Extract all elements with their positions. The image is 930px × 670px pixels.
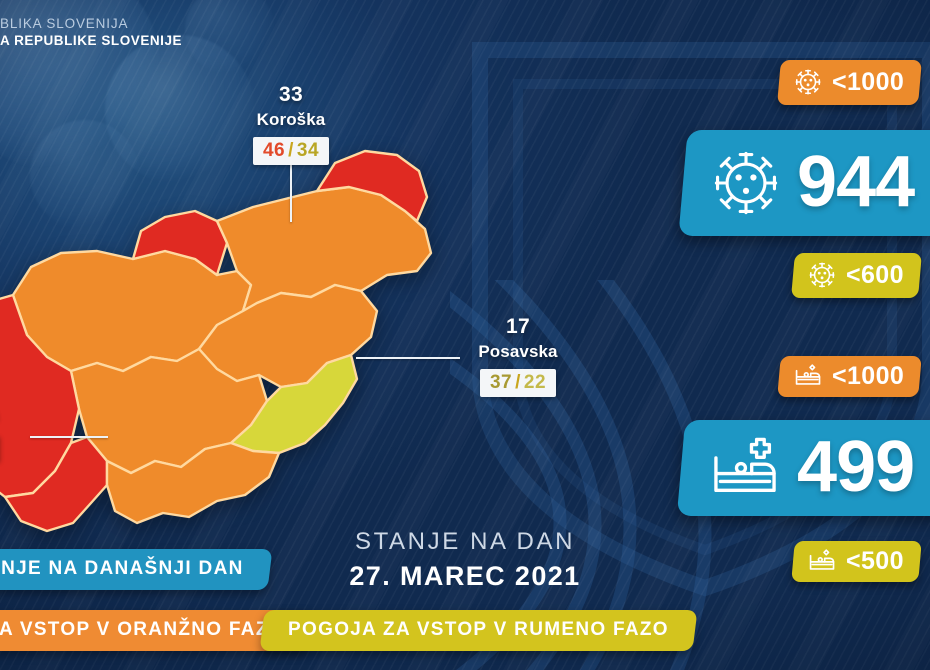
bar-orange-phase-label: ZA VSTOP V ORANŽNO FAZO xyxy=(0,619,285,641)
header-line-2: A REPUBLIKE SLOVENIJE xyxy=(0,33,182,48)
threshold-cases-yellow[interactable]: <600 xyxy=(791,253,922,298)
date-value: 27. MAREC 2021 xyxy=(0,561,930,592)
threshold-beds-orange[interactable]: <1000 xyxy=(777,356,922,397)
beds-value: 499 xyxy=(797,436,914,499)
callout-posavska-ratio: 37/22 xyxy=(480,369,556,397)
callout-koroska-ratio: 46/34 xyxy=(253,137,329,165)
callout-clipped-region: ška xyxy=(0,404,32,424)
leader-line-clipped xyxy=(30,436,108,438)
ratio-separator: / xyxy=(288,140,294,161)
threshold-cases-orange[interactable]: <1000 xyxy=(777,60,922,105)
callout-clipped-left[interactable]: ška xyxy=(0,404,32,466)
callout-koroska-number: 33 xyxy=(228,84,354,105)
hospital-bed-icon xyxy=(707,436,783,500)
ratio-value-a: 37 xyxy=(490,372,512,393)
threshold-cases-yellow-label: <600 xyxy=(846,263,904,288)
hospital-bed-icon xyxy=(793,363,823,389)
bar-yellow-phase-label: POGOJA ZA VSTOP V RUMENO FAZO xyxy=(288,619,669,641)
bar-yellow-phase[interactable]: POGOJA ZA VSTOP V RUMENO FAZO xyxy=(259,610,697,651)
leader-line-koroska xyxy=(290,160,292,222)
government-header: BLIKA SLOVENIJA A REPUBLIKE SLOVENIJE xyxy=(0,16,182,48)
callout-koroska-region: Koroška xyxy=(228,110,354,130)
header-line-1: BLIKA SLOVENIJA xyxy=(0,16,182,31)
date-block: STANJE NA DAN 27. MAREC 2021 xyxy=(0,528,930,592)
ratio-value-b: 34 xyxy=(297,140,319,161)
ratio-separator: / xyxy=(515,372,521,393)
virus-icon xyxy=(793,67,823,97)
callout-posavska-number: 17 xyxy=(443,316,593,337)
beds-card[interactable]: 499 xyxy=(677,420,930,516)
callout-posavska-region: Posavska xyxy=(443,342,593,362)
date-label: STANJE NA DAN xyxy=(0,528,930,556)
threshold-beds-orange-label: <1000 xyxy=(832,364,904,389)
virus-icon xyxy=(807,260,837,290)
ratio-value-b: 22 xyxy=(524,372,546,393)
ratio-value-a: 46 xyxy=(263,140,285,161)
cases-card[interactable]: 944 xyxy=(678,130,930,236)
cases-value: 944 xyxy=(797,151,914,214)
callout-koroska[interactable]: 33 Koroška 46/34 xyxy=(228,84,354,165)
threshold-cases-orange-label: <1000 xyxy=(832,70,904,95)
callout-posavska[interactable]: 17 Posavska 37/22 xyxy=(443,316,593,397)
virus-icon xyxy=(709,146,783,220)
